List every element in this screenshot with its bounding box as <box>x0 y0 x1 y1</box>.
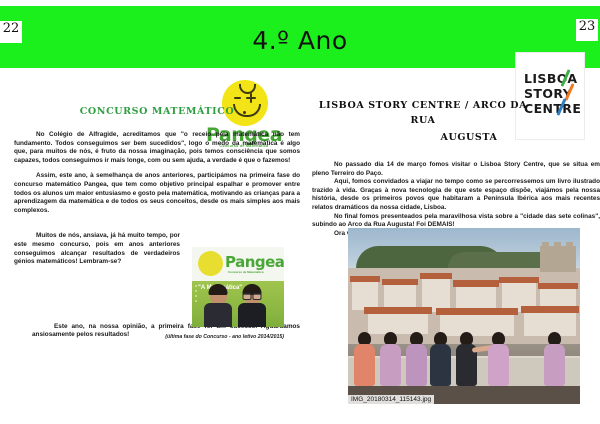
child-figure <box>430 332 451 386</box>
right-paragraph-1: No passado dia 14 de março fomos visitar… <box>312 161 600 178</box>
photo-filename-label: IMG_20180314_115143.jpg <box>348 395 434 404</box>
page-number-right: 23 <box>576 19 598 41</box>
left-paragraph-2: Assim, este ano, à semelhança de anos an… <box>14 172 300 215</box>
child-figure <box>380 332 401 386</box>
child-figure <box>488 332 509 386</box>
photo-pangea-tagline: Concurso de Matemática <box>228 270 264 274</box>
child-figure <box>544 332 565 386</box>
left-paragraph-1: No Colégio de Alfragide, acreditamos que… <box>14 131 300 165</box>
student-figure <box>204 286 232 327</box>
photo-pangea-face-icon <box>198 251 223 276</box>
right-paragraph-2: Aqui, fomos convidados a viajar no tempo… <box>312 178 600 212</box>
right-section-heading-line2: AUGUSTA <box>364 130 574 145</box>
left-section-heading: CONCURSO MATEMÁTICO <box>14 106 300 117</box>
left-paragraph-3: Muitos de nós, ansiava, já há muito temp… <box>14 232 180 266</box>
pangea-photo-caption: (última fase do Concurso - ano letivo 20… <box>120 334 284 340</box>
student-figure <box>238 286 266 327</box>
newsletter-page: 4.º Ano 22 23 Pangea Concurso de Matemát… <box>0 0 600 424</box>
page-title: 4.º Ano <box>0 26 600 55</box>
right-column: LISBOA STORY CENTRE / ARCO DA RUA AUGUST… <box>312 72 600 238</box>
lisbon-rooftop-photo: IMG_20180314_115143.jpg <box>348 228 580 404</box>
right-section-heading-line1: LISBOA STORY CENTRE / ARCO DA RUA <box>318 98 528 128</box>
page-number-left: 22 <box>0 21 22 43</box>
child-figure <box>406 332 427 386</box>
child-figure <box>456 332 477 386</box>
glasses-icon <box>243 293 262 298</box>
child-figure <box>354 332 375 386</box>
photo-pangea-wordmark: Pangea <box>225 253 284 271</box>
pangea-event-photo: Pangea Concurso de Matemática "A Matemát… <box>192 247 284 327</box>
